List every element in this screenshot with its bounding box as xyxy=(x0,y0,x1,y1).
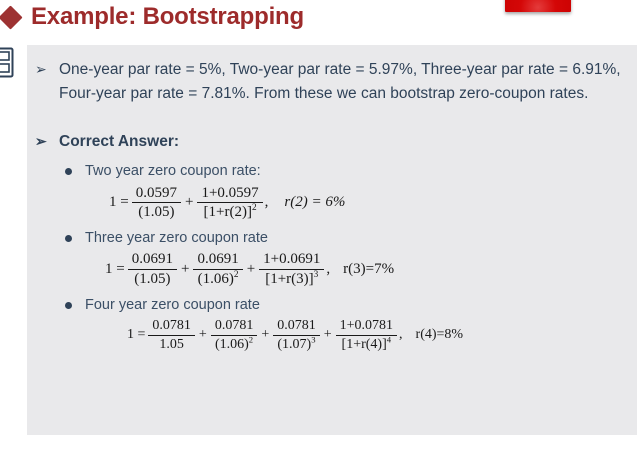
plus-operator: + xyxy=(261,327,269,343)
two-year-label: Two year zero coupon rate: xyxy=(85,163,261,179)
fraction-denominator: (1.05) xyxy=(134,203,178,221)
bullet-correct-answer: ➢ Correct Answer: xyxy=(27,130,637,154)
denominator-exponent: 4 xyxy=(387,334,391,344)
correct-answer-label: Correct Answer: xyxy=(59,133,179,150)
fraction-numerator: 1+0.0691 xyxy=(259,251,324,270)
equation-lead: 1 = xyxy=(105,261,125,278)
fraction-numerator: 1+0.0597 xyxy=(197,185,262,204)
document-outline-icon[interactable] xyxy=(0,47,14,78)
dot-bullet-icon xyxy=(65,235,72,242)
fraction-denominator: (1.06)2 xyxy=(211,336,257,353)
fraction-numerator: 0.0597 xyxy=(132,185,181,204)
arrow-bullet-icon: ➢ xyxy=(35,131,47,152)
fraction-term: 0.0781 1.05 xyxy=(148,318,195,352)
dot-bullet-icon xyxy=(65,302,72,309)
equation-separator: , xyxy=(265,194,269,211)
fraction-term: 1+0.0597 [1+r(2)]2 xyxy=(197,185,262,222)
equation-two-year: 1 = 0.0597 (1.05) + 1+0.0597 [1+r(2)]2 ,… xyxy=(27,185,637,222)
plus-operator: + xyxy=(181,261,189,278)
page-title: Example: Bootstrapping xyxy=(31,3,304,31)
list-item-four-year: Four year zero coupon rate xyxy=(27,297,637,313)
fraction-denominator: 1.05 xyxy=(155,336,188,353)
dot-bullet-icon xyxy=(65,168,72,175)
list-item-three-year: Three year zero coupon rate xyxy=(27,230,637,246)
plus-operator: + xyxy=(247,261,255,278)
equation-separator: , xyxy=(326,261,330,278)
fraction-numerator: 0.0691 xyxy=(128,251,177,270)
equation-lead: 1 = xyxy=(109,194,129,211)
equation-result-three-year: r(3)=7% xyxy=(343,261,394,278)
denominator-exponent: 3 xyxy=(311,334,315,344)
denominator-exponent: 2 xyxy=(249,334,253,344)
equation-result-four-year: r(4)=8% xyxy=(416,327,464,343)
slide-title-row: Example: Bootstrapping xyxy=(0,1,304,33)
fraction-denominator: [1+r(4)]4 xyxy=(338,336,396,353)
par-rates-text: One-year par rate = 5%, Two-year par rat… xyxy=(59,61,621,102)
plus-operator: + xyxy=(199,327,207,343)
four-year-label: Four year zero coupon rate xyxy=(85,297,260,313)
fraction-numerator: 0.0781 xyxy=(273,318,320,336)
fraction-term: 0.0781 (1.07)3 xyxy=(273,318,320,352)
arrow-bullet-icon: ➢ xyxy=(35,59,47,80)
fraction-denominator: [1+r(3)]3 xyxy=(261,270,322,288)
three-year-label: Three year zero coupon rate xyxy=(85,230,268,246)
fraction-denominator: (1.06)2 xyxy=(194,270,243,288)
fraction-term: 1+0.0691 [1+r(3)]3 xyxy=(259,251,324,288)
slide-content-panel: ➢ One-year par rate = 5%, Two-year par r… xyxy=(27,45,637,435)
fraction-numerator: 0.0781 xyxy=(211,318,258,336)
plus-operator: + xyxy=(185,194,193,211)
fraction-term: 0.0781 (1.06)2 xyxy=(211,318,258,352)
fraction-numerator: 0.0691 xyxy=(193,251,242,270)
fraction-denominator: (1.05) xyxy=(130,270,174,288)
fraction-numerator: 0.0781 xyxy=(148,318,195,336)
equation-three-year: 1 = 0.0691 (1.05) + 0.0691 (1.06)2 + 1+0… xyxy=(27,251,637,288)
fraction-denominator: [1+r(2)]2 xyxy=(200,203,261,221)
equation-lead: 1 = xyxy=(127,327,145,343)
fraction-term: 0.0597 (1.05) xyxy=(132,185,181,222)
denominator-exponent: 2 xyxy=(252,203,257,213)
fraction-term: 0.0691 (1.06)2 xyxy=(193,251,242,288)
bullet-paragraph-par-rates: ➢ One-year par rate = 5%, Two-year par r… xyxy=(27,58,637,105)
diamond-bullet-icon xyxy=(0,5,23,29)
equation-result-two-year: r(2) = 6% xyxy=(284,194,345,211)
denominator-exponent: 3 xyxy=(314,270,319,280)
plus-operator: + xyxy=(324,327,332,343)
fraction-term: 1+0.0781 [1+r(4)]4 xyxy=(336,318,397,352)
equation-separator: , xyxy=(399,327,403,343)
fraction-term: 0.0691 (1.05) xyxy=(128,251,177,288)
fraction-denominator: (1.07)3 xyxy=(273,336,319,353)
fraction-numerator: 1+0.0781 xyxy=(336,318,397,336)
red-banner-graphic xyxy=(505,0,571,12)
equation-four-year: 1 = 0.0781 1.05 + 0.0781 (1.06)2 + 0.078… xyxy=(27,318,637,352)
list-item-two-year: Two year zero coupon rate: xyxy=(27,163,637,179)
denominator-exponent: 2 xyxy=(234,270,239,280)
